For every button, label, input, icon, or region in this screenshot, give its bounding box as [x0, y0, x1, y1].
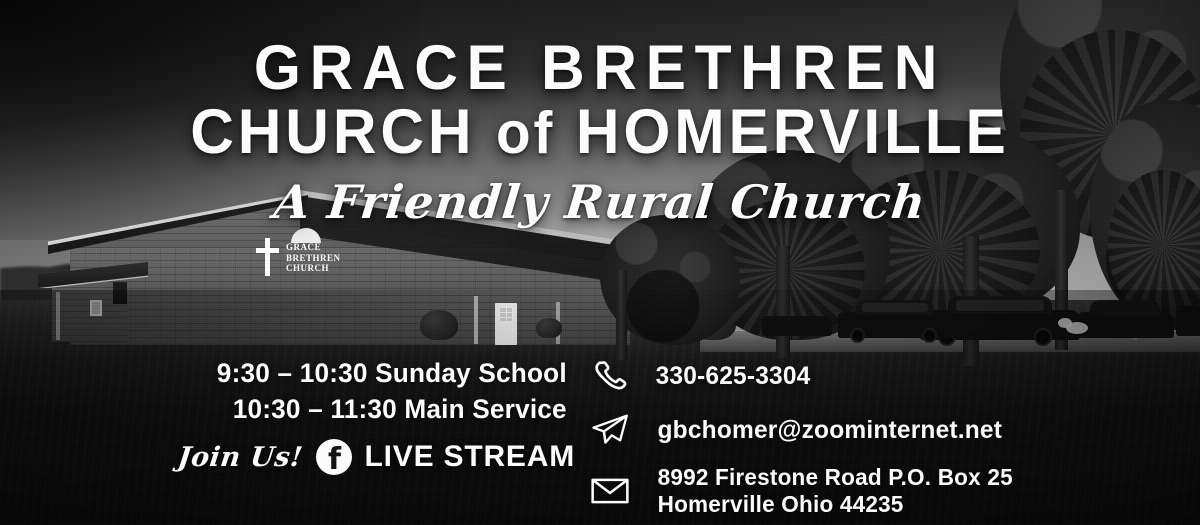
contact-row-email[interactable]: gbchomer@zoominternet.net [588, 410, 1088, 450]
live-stream-row[interactable]: Join Us! LIVE STREAM [30, 439, 575, 475]
church-building-sign: GRACE BRETHREN CHURCH [243, 228, 343, 280]
cross-icon [265, 238, 270, 276]
live-stream-label[interactable]: LIVE STREAM [365, 440, 575, 474]
address-line-2: Homerville Ohio 44235 [658, 491, 1013, 518]
service-times-block: 9:30 – 10:30 Sunday School 10:30 – 11:30… [30, 355, 575, 475]
email-address[interactable]: gbchomer@zoominternet.net [658, 415, 1003, 445]
paper-plane-icon [588, 410, 632, 450]
title-of-word: of [496, 100, 555, 166]
sign-text: GRACE BRETHREN CHURCH [286, 242, 348, 274]
join-us-label: Join Us! [176, 442, 304, 473]
sunday-school-time: 9:30 – 10:30 Sunday School [38, 355, 567, 391]
phone-icon [588, 356, 632, 396]
address-line-1: 8992 Firestone Road P.O. Box 25 [658, 464, 1013, 491]
envelope-icon [588, 471, 632, 511]
cross-icon-crossbar [256, 248, 279, 253]
phone-number[interactable]: 330-625-3304 [656, 361, 811, 391]
facebook-icon[interactable] [316, 439, 352, 475]
title-homerville-word: HOMERVILLE [576, 97, 1010, 167]
contact-row-address[interactable]: 8992 Firestone Road P.O. Box 25 Homervil… [588, 464, 1088, 518]
church-banner: GRACE BRETHREN CHURCH [0, 0, 1200, 525]
contact-block: 330-625-3304 gbchomer@zoominternet.net 8… [588, 356, 1088, 525]
main-service-time: 10:30 – 11:30 Main Service [38, 391, 567, 427]
title-church-word: CHURCH [190, 97, 475, 167]
sign-line-3: CHURCH [286, 263, 348, 274]
banner-subtitle: A Friendly Rural Church [0, 176, 1200, 228]
contact-row-phone[interactable]: 330-625-3304 [588, 356, 1088, 396]
banner-title: GRACE BRETHREN CHURCH of HOMERVILLE [0, 36, 1200, 165]
sign-arc-decoration [291, 228, 321, 243]
mailing-address[interactable]: 8992 Firestone Road P.O. Box 25 Homervil… [654, 464, 1016, 518]
sign-line-2: BRETHREN [286, 253, 348, 264]
title-line-2: CHURCH of HOMERVILLE [24, 100, 1176, 165]
sign-line-1: GRACE [286, 242, 348, 253]
title-line-1: GRACE BRETHREN [24, 36, 1176, 100]
